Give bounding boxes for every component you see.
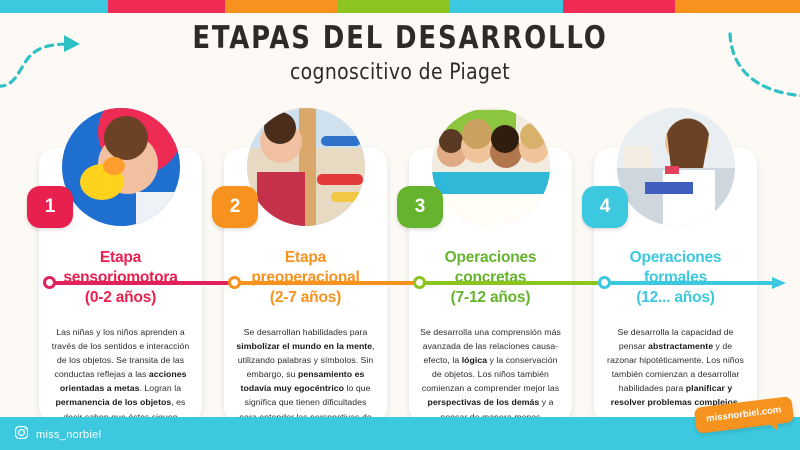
timeline [0,275,800,291]
infographic-canvas: ETAPAS DEL DESARROLLO cognoscitivo de Pi… [0,0,800,450]
top-strip-segment [675,0,800,13]
timeline-arrow-icon [772,275,790,296]
toddler-playing-photo [247,108,365,226]
stage-number-badge: 2 [212,186,258,228]
timeline-marker [598,276,611,289]
baby-with-toy-photo [62,108,180,226]
top-strip-segment [225,0,338,13]
instagram-credit[interactable]: miss_norbiel [14,425,101,445]
timeline-segment [418,281,603,285]
timeline-segment [48,281,233,285]
timeline-marker [228,276,241,289]
stage-number-badge: 3 [397,186,443,228]
top-strip-segment [0,0,108,13]
top-strip-segment [338,0,451,13]
stage-number-badge: 1 [27,186,73,228]
timeline-segment [603,281,776,285]
instagram-icon [14,425,29,445]
top-strip-segment [450,0,563,13]
stage-cards-container: 1Etapasensoriomotora(0-2 años)Las niñas … [0,106,800,426]
teen-writing-photo [617,108,735,226]
footer-bar: miss_norbiel [0,417,800,450]
page-subtitle: cognoscitivo de Piaget [20,60,780,85]
instagram-handle: miss_norbiel [36,429,101,441]
top-color-strip [0,0,800,13]
stage-description: Se desarrolla la capacidad de pensar abs… [605,325,746,410]
top-strip-segment [108,0,226,13]
timeline-marker [413,276,426,289]
header: ETAPAS DEL DESARROLLO cognoscitivo de Pi… [0,22,800,85]
stage-number-badge: 4 [582,186,628,228]
children-studying-photo [432,108,550,226]
top-strip-segment [563,0,676,13]
timeline-segment [233,281,418,285]
timeline-marker [43,276,56,289]
page-title: ETAPAS DEL DESARROLLO [28,22,772,55]
